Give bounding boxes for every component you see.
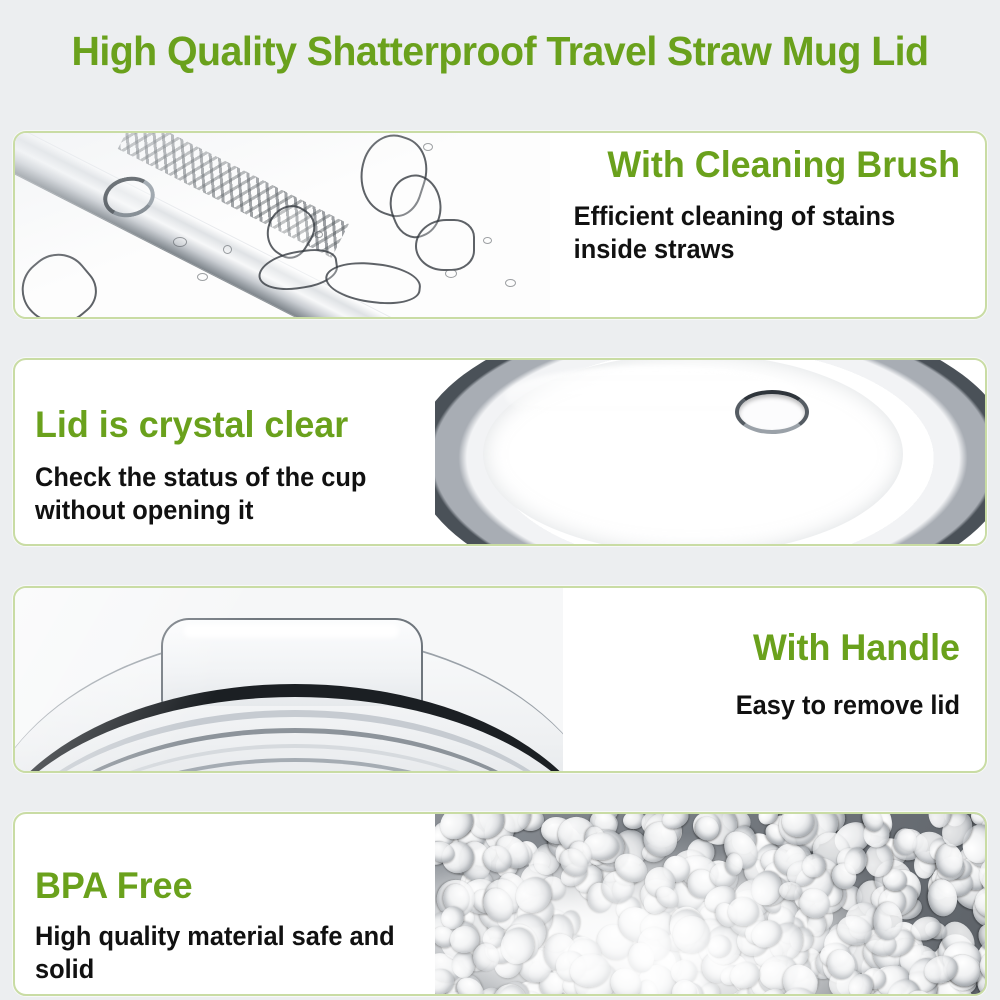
feature-headline: With Handle xyxy=(585,626,960,669)
feature-copy-block: BPA Free High quality material safe and … xyxy=(15,814,435,994)
feature-headline: Lid is crystal clear xyxy=(35,403,423,446)
feature-headline: With Cleaning Brush xyxy=(580,143,960,186)
feature-panel-with-handle: With Handle Easy to remove lid xyxy=(13,586,987,773)
feature-body-text: Easy to remove lid xyxy=(596,689,960,722)
feature-panel-lid-is-crystal-clear: Lid is crystal clear Check the status of… xyxy=(13,358,987,546)
feature-image-lid-handle xyxy=(15,588,563,771)
image-shading-overlay xyxy=(435,814,985,994)
feature-body-text: Efficient cleaning of stains inside stra… xyxy=(568,200,936,266)
feature-headline: BPA Free xyxy=(35,864,423,907)
straw-hole-shape xyxy=(735,390,809,434)
feature-panel-bpa-free: BPA Free High quality material safe and … xyxy=(13,812,987,996)
feature-copy-block: Lid is crystal clear Check the status of… xyxy=(15,360,435,544)
image-shading-overlay xyxy=(15,133,550,317)
feature-copy-block: With Cleaning Brush Efficient cleaning o… xyxy=(550,133,985,317)
feature-image-cleaning-brush xyxy=(15,133,550,317)
feature-image-plastic-pellets xyxy=(435,814,985,994)
image-shading-overlay xyxy=(15,588,563,771)
infographic-page: High Quality Shatterproof Travel Straw M… xyxy=(0,0,1000,1000)
feature-panel-with-cleaning-brush: With Cleaning Brush Efficient cleaning o… xyxy=(13,131,987,319)
feature-image-crystal-clear-lid xyxy=(435,360,985,544)
feature-copy-block: With Handle Easy to remove lid xyxy=(563,588,985,771)
feature-body-text: High quality material safe and solid xyxy=(35,920,411,986)
feature-body-text: Check the status of the cup without open… xyxy=(35,461,411,527)
page-title: High Quality Shatterproof Travel Straw M… xyxy=(20,28,980,75)
